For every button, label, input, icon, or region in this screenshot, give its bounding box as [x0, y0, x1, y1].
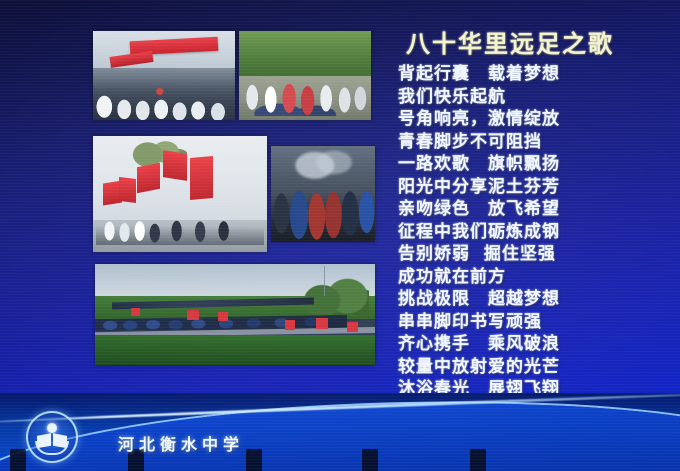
lyric-line: 串串脚印书写顽强: [398, 311, 674, 334]
red-flag: [347, 322, 358, 332]
foreground-post: [10, 449, 26, 471]
photo-group-closeup-dark: [271, 146, 375, 242]
lyric-line: 青春脚步不可阻挡: [398, 131, 674, 154]
photo-students-marching-on-green-path: [239, 31, 371, 120]
school-emblem-icon: [26, 411, 78, 463]
red-flag: [187, 310, 198, 319]
lyric-line: 阳光中分享泥土芬芳: [398, 176, 674, 199]
photo-panorama-long-column-through-fields: [95, 264, 375, 365]
campus-photo-band: 河北衡水中学: [0, 393, 680, 471]
student-crowd: [96, 210, 263, 245]
song-lyrics-panel: 八十华里远足之歌 背起行囊 载着梦想 我们快乐起航 号角响亮，激情绽放 青春脚步…: [396, 24, 674, 423]
red-flag: [119, 177, 136, 203]
foreground-post: [246, 449, 262, 471]
red-flag: [190, 156, 213, 200]
red-flag: [137, 163, 160, 193]
red-flag: [163, 150, 187, 181]
emblem-sun-icon: [47, 423, 57, 433]
lyric-line: 我们快乐起航: [398, 86, 674, 109]
school-name: 河北衡水中学: [118, 431, 244, 455]
lyric-line: 一路欢歌 旗帜飘扬: [398, 153, 674, 176]
lyric-line: 挑战极限 超越梦想: [398, 288, 674, 311]
lyric-line: 较量中放射爱的光芒: [398, 356, 674, 379]
lyric-line: 号角响亮，激情绽放: [398, 108, 674, 131]
lyric-line: 告别娇弱 掘住坚强: [398, 243, 674, 266]
lyric-line: 征程中我们砺炼成钢: [398, 221, 674, 244]
student-crowd: [239, 61, 371, 116]
red-flag: [316, 318, 328, 329]
lyric-line: 背起行囊 载着梦想: [398, 63, 674, 86]
presentation-slide: 八十华里远足之歌 背起行囊 载着梦想 我们快乐起航 号角响亮，激情绽放 青春脚步…: [0, 0, 680, 471]
photo-red-flags-procession: [93, 136, 267, 252]
photo-near-field: [95, 335, 375, 365]
lyric-line: 成功就在前方: [398, 266, 674, 289]
song-title: 八十华里远足之歌: [406, 24, 674, 59]
photo-students-marching-with-red-banner: [93, 31, 235, 120]
student-crowd: [93, 67, 235, 120]
red-flag: [218, 312, 228, 320]
emblem-arc-icon: [35, 441, 69, 455]
lyric-line: 齐心携手 乘风破浪: [398, 333, 674, 356]
red-flag: [131, 308, 139, 315]
foreground-post: [362, 449, 378, 471]
red-flag: [285, 320, 295, 330]
foreground-post: [470, 449, 486, 471]
student-group: [271, 167, 375, 242]
lyric-line: 亲吻绿色 放飞希望: [398, 198, 674, 221]
utility-pole: [324, 266, 325, 296]
